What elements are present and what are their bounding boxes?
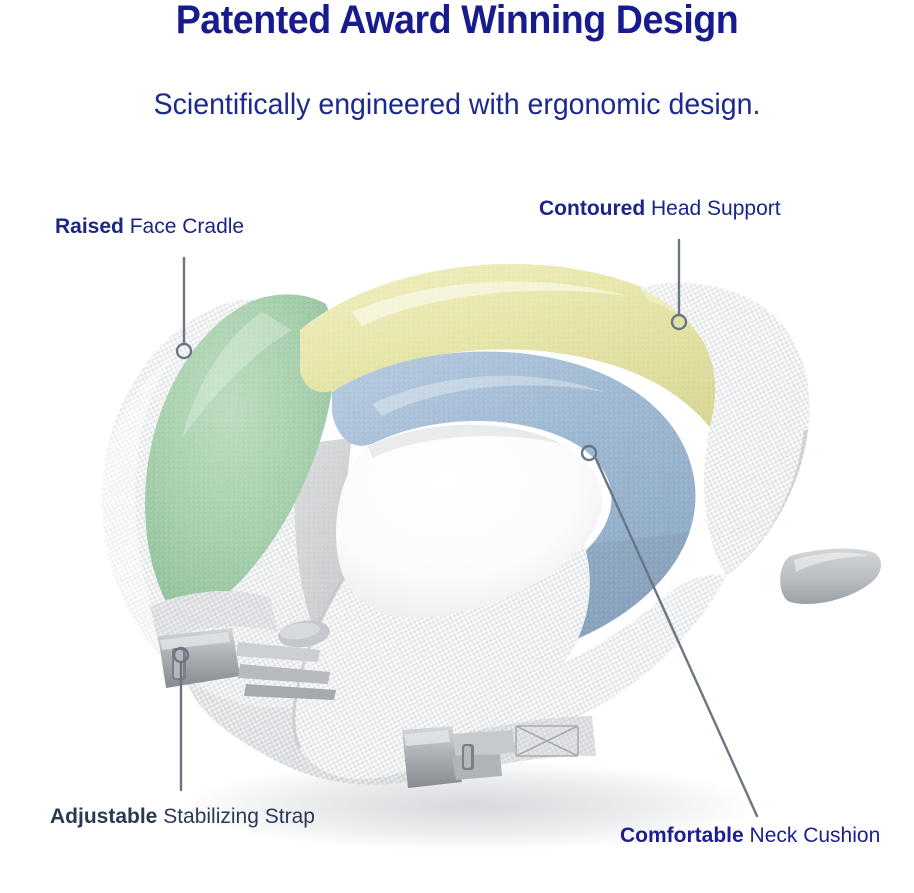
callout-emphasis: Contoured bbox=[539, 197, 645, 220]
callout-label-raised-face-cradle: Raised Face Cradle bbox=[55, 216, 244, 237]
callout-label-adjustable-stabilizing-strap: Adjustable Stabilizing Strap bbox=[50, 806, 315, 827]
page-subtitle: Scientifically engineered with ergonomic… bbox=[23, 88, 891, 122]
callout-rest: Face Cradle bbox=[124, 215, 244, 238]
callout-rest: Head Support bbox=[645, 197, 780, 220]
product-image bbox=[0, 0, 914, 893]
callout-emphasis: Raised bbox=[55, 215, 124, 238]
callout-emphasis: Comfortable bbox=[620, 824, 744, 847]
callout-emphasis: Adjustable bbox=[50, 805, 157, 828]
page-title: Patented Award Winning Design bbox=[27, 0, 886, 43]
callout-label-comfortable-neck-cushion: Comfortable Neck Cushion bbox=[620, 825, 880, 846]
right-fabric-tab bbox=[780, 549, 881, 604]
callout-label-contoured-head-support: Contoured Head Support bbox=[539, 198, 781, 219]
infographic-canvas: Patented Award Winning Design Scientific… bbox=[0, 0, 914, 893]
callout-rest: Neck Cushion bbox=[744, 824, 881, 847]
callout-rest: Stabilizing Strap bbox=[157, 805, 315, 828]
